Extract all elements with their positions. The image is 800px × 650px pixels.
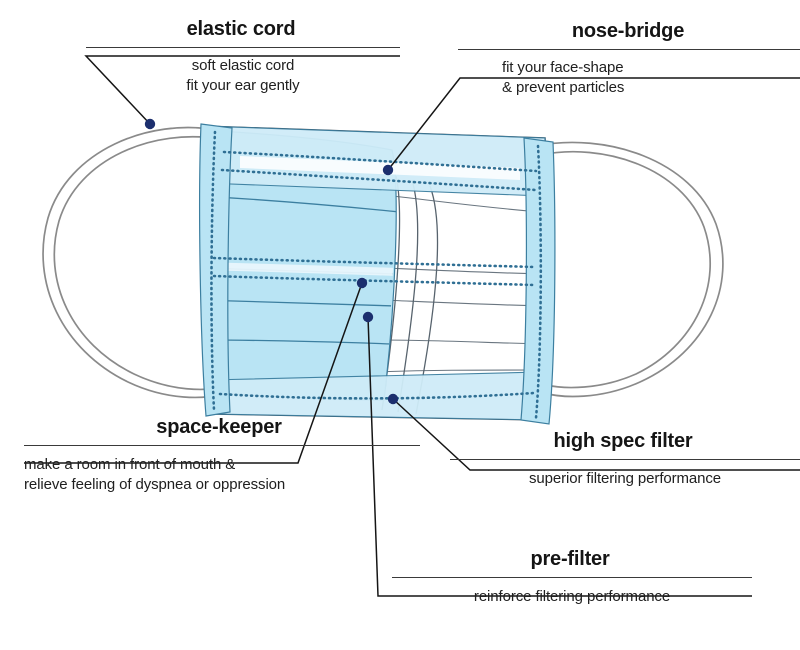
- callout-desc-pre-filter: reinforce filtering performance: [392, 587, 752, 607]
- callout-space-keeper: space-keeper make a room in front of mou…: [24, 416, 420, 495]
- ear-cord-right: [536, 142, 723, 396]
- mask-diagram: elastic cord soft elastic cord fit your …: [0, 0, 800, 650]
- callout-elastic-cord: elastic cord soft elastic cord fit your …: [86, 18, 400, 96]
- callout-pre-filter: pre-filter reinforce filtering performan…: [392, 548, 752, 607]
- callout-rule-elastic-cord: [86, 47, 400, 48]
- callout-desc-line2: & prevent particles: [502, 78, 800, 98]
- dot-high-spec-filter: [388, 394, 398, 404]
- callout-desc-line2: relieve feeling of dyspnea or oppression: [24, 475, 420, 495]
- dot-pre-filter: [363, 312, 373, 322]
- callout-desc-line1: superior filtering performance: [450, 469, 800, 489]
- callout-desc-nose-bridge: fit your face-shape & prevent particles: [458, 58, 800, 98]
- ear-cord-left: [43, 128, 224, 398]
- callout-rule-space-keeper: [24, 445, 420, 446]
- callout-rule-high-spec-filter: [450, 459, 800, 460]
- callout-nose-bridge: nose-bridge fit your face-shape & preven…: [458, 20, 800, 98]
- callout-high-spec-filter: high spec filter superior filtering perf…: [450, 430, 800, 489]
- callout-desc-line1: reinforce filtering performance: [392, 587, 752, 607]
- bottom-hem-band: [209, 372, 543, 420]
- callout-title-nose-bridge: nose-bridge: [458, 20, 798, 43]
- callout-title-space-keeper: space-keeper: [24, 416, 414, 439]
- callout-desc-line2: fit your ear gently: [86, 76, 400, 96]
- callout-desc-space-keeper: make a room in front of mouth & relieve …: [24, 455, 420, 495]
- callout-desc-line1: make a room in front of mouth &: [24, 455, 420, 475]
- callout-title-high-spec-filter: high spec filter: [450, 430, 796, 453]
- callout-desc-line1: fit your face-shape: [502, 58, 800, 78]
- callout-desc-high-spec-filter: superior filtering performance: [450, 469, 800, 489]
- callout-desc-line1: soft elastic cord: [86, 56, 400, 76]
- callout-rule-nose-bridge: [458, 49, 800, 50]
- callout-rule-pre-filter: [392, 577, 752, 578]
- callout-desc-elastic-cord: soft elastic cord fit your ear gently: [86, 56, 400, 96]
- callout-title-elastic-cord: elastic cord: [86, 18, 396, 41]
- callout-title-pre-filter: pre-filter: [392, 548, 748, 571]
- dot-space-keeper: [357, 278, 367, 288]
- dot-nose-bridge: [383, 165, 393, 175]
- seam-band-left: [200, 124, 232, 416]
- dot-elastic-cord: [145, 119, 155, 129]
